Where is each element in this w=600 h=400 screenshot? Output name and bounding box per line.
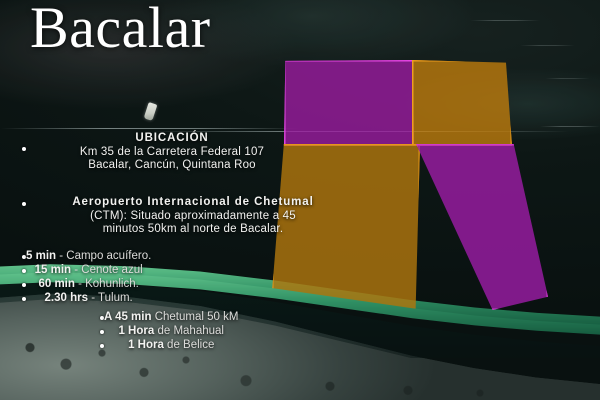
ubicacion-line-2: Bacalar, Cancún, Quintana Roo [32,159,312,173]
list-item-duration: A 45 min [104,311,152,323]
lejanos-list: A 45 min Chetumal 50 kM1 Hora de Mahahua… [100,310,246,352]
ubicacion-heading: UBICACIÓN [32,132,312,146]
list-item: 1 Hora de Belice [100,338,246,352]
aeropuerto-heading: Aeropuerto Internacional de Chetumal [34,196,352,210]
info-blocks: UBICACIÓN Km 35 de la Carretera Federal … [0,0,600,400]
list-item: 15 min - Cenote azul [22,263,151,277]
poster-canvas: Bacalar UBICACIÓN Km 35 de la Carretera … [0,0,600,400]
list-item-duration: 1 Hora [128,339,164,351]
list-item-place: de Mahahual [154,325,224,337]
list-item-text: 1 Hora de Mahahual [104,324,246,338]
info-block-ubicacion: UBICACIÓN Km 35 de la Carretera Federal … [22,132,312,173]
list-item-text: 5 min - Campo acuífero. [26,249,151,263]
list-item-text: A 45 min Chetumal 50 kM [104,310,246,324]
list-item-place: de Belice [164,339,215,351]
list-item-place: - Kohunlich. [75,278,139,290]
list-item: A 45 min Chetumal 50 kM [100,310,246,324]
list-item-text: 60 min - Kohunlich. [26,277,151,291]
list-item-place: - Campo acuífero. [56,250,151,262]
list-item-duration: 2.30 hrs [45,292,88,304]
list-item-duration: 5 min [26,250,56,262]
aeropuerto-line-2: minutos 50km al norte de Bacalar. [34,223,352,237]
list-item: 60 min - Kohunlich. [22,277,151,291]
info-block-lejanos: A 45 min Chetumal 50 kM1 Hora de Mahahua… [100,310,400,352]
info-block-cercanos: 5 min - Campo acuífero.15 min - Cenote a… [22,249,322,305]
list-item-place: - Tulum. [88,292,133,304]
info-block-aeropuerto: Aeropuerto Internacional de Chetumal (CT… [22,196,352,237]
list-item-place: - Cenote azul [71,264,143,276]
list-item-duration: 15 min [35,264,71,276]
list-item-text: 2.30 hrs - Tulum. [26,291,151,305]
list-item-text: 1 Hora de Belice [104,338,246,352]
ubicacion-line-1: Km 35 de la Carretera Federal 107 [32,146,312,160]
aeropuerto-line-1: (CTM): Situado aproximadamente a 45 [34,210,352,224]
list-item-text: 15 min - Cenote azul [26,263,151,277]
cercanos-list: 5 min - Campo acuífero.15 min - Cenote a… [22,249,151,305]
list-item-place: Chetumal 50 kM [152,311,239,323]
list-item: 2.30 hrs - Tulum. [22,291,151,305]
list-item: 1 Hora de Mahahual [100,324,246,338]
list-item-duration: 1 Hora [118,325,154,337]
list-item: 5 min - Campo acuífero. [22,249,151,263]
list-item-duration: 60 min [38,278,74,290]
